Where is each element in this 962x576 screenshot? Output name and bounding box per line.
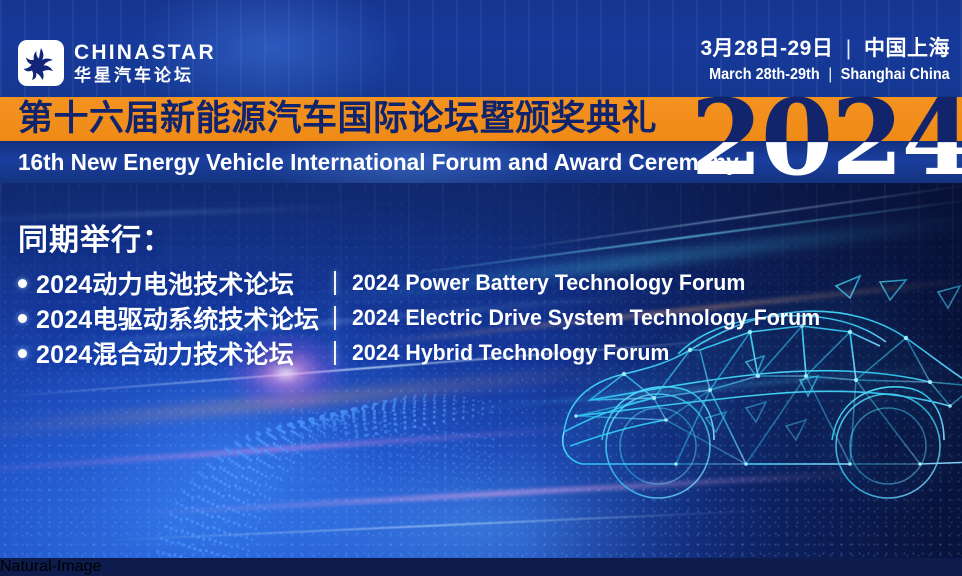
concurrent-events-section: 同期举行： 2024动力电池技术论坛 2024 Power Battery Te… [18, 215, 835, 369]
concurrent-events-list: 2024动力电池技术论坛 2024 Power Battery Technolo… [18, 267, 835, 369]
event-title-english: 16th New Energy Vehicle International Fo… [18, 141, 739, 183]
bullet-icon [18, 349, 27, 358]
column-divider [334, 271, 336, 295]
forum-name-english: 2024 Hybrid Technology Forum [352, 340, 669, 366]
bullet-icon [18, 279, 27, 288]
forum-name-english: 2024 Electric Drive System Technology Fo… [352, 305, 820, 331]
forum-name-chinese: 2024电驱动系统技术论坛 [36, 300, 319, 336]
forum-name-chinese: 2024动力电池技术论坛 [36, 265, 294, 301]
column-divider [334, 341, 336, 365]
forum-chinese-column: 2024电驱动系统技术论坛 [18, 300, 318, 336]
column-divider [334, 306, 336, 330]
list-item: 2024混合动力技术论坛 2024 Hybrid Technology Foru… [18, 337, 835, 369]
event-poster: CHINASTAR 华星汽车论坛 3月28日-29日 | 中国上海 March … [0, 0, 962, 558]
event-title-chinese: 第十六届新能源汽车国际论坛暨颁奖典礼 [18, 97, 657, 141]
list-item: 2024电驱动系统技术论坛 2024 Electric Drive System… [18, 302, 835, 334]
forum-chinese-column: 2024动力电池技术论坛 [18, 265, 318, 301]
bullet-icon [18, 314, 27, 323]
forum-name-english: 2024 Power Battery Technology Forum [352, 270, 745, 296]
list-item: 2024动力电池技术论坛 2024 Power Battery Technolo… [18, 267, 835, 299]
forum-name-chinese: 2024混合动力技术论坛 [36, 335, 294, 371]
forum-chinese-column: 2024混合动力技术论坛 [18, 335, 318, 371]
concurrent-events-heading: 同期举行： [18, 215, 835, 259]
